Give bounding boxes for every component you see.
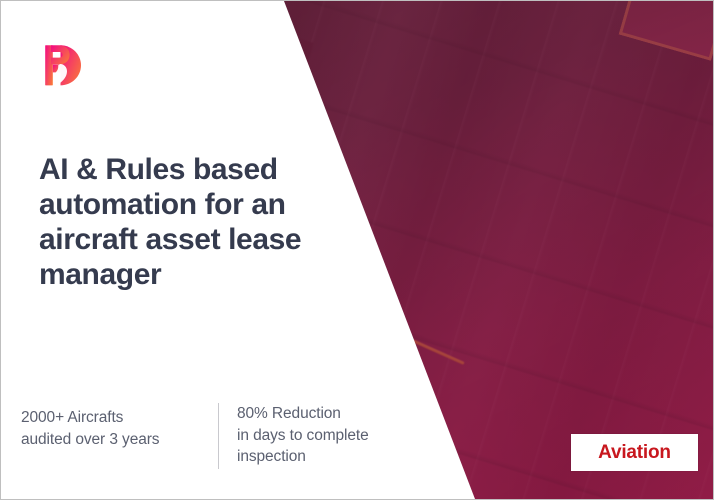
relinns-r-logo-icon bbox=[40, 43, 83, 87]
status-badge: Aviation bbox=[571, 434, 698, 471]
stat-line: audited over 3 years bbox=[21, 429, 218, 451]
case-study-card: UNITED bbox=[0, 0, 714, 500]
industry-badge-label: Aviation bbox=[598, 442, 671, 464]
stats-row: 2000+ Aircrafts audited over 3 years 80%… bbox=[21, 403, 369, 469]
stat-line: inspection bbox=[237, 446, 369, 468]
stat-line: 2000+ Aircrafts bbox=[21, 407, 218, 429]
page-title: AI & Rules based automation for an aircr… bbox=[39, 153, 369, 293]
stat-line: in days to complete bbox=[237, 425, 369, 447]
stat-line: 80% Reduction bbox=[237, 403, 369, 425]
stat-inspection-reduction: 80% Reduction in days to complete inspec… bbox=[237, 403, 369, 468]
stat-aircrafts-audited: 2000+ Aircrafts audited over 3 years bbox=[21, 403, 218, 450]
content-column: AI & Rules based automation for an aircr… bbox=[1, 1, 361, 499]
stats-divider bbox=[218, 403, 219, 469]
